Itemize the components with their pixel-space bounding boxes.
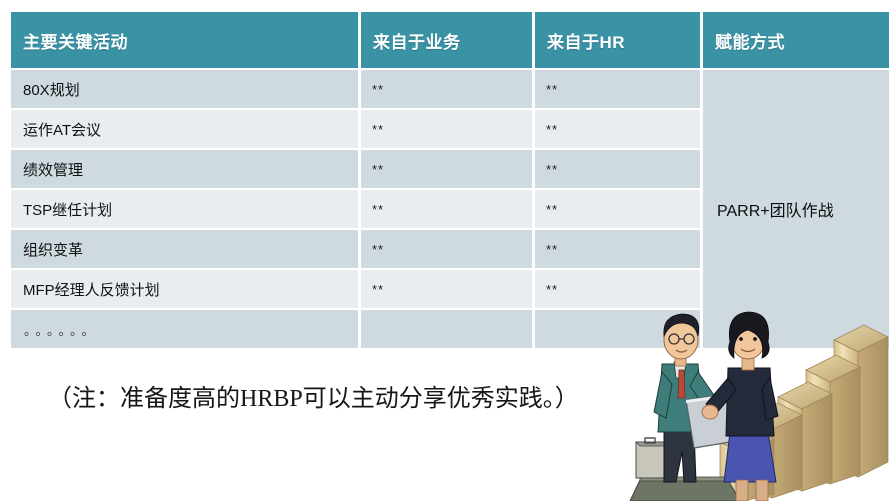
bar-2 <box>748 403 802 498</box>
cell-hr: ** <box>535 70 700 108</box>
cell-hr: ** <box>535 150 700 188</box>
table-header-row: 主要关键活动 来自于业务 来自于HR 赋能方式 <box>11 12 889 68</box>
cell-hr: ** <box>535 230 700 268</box>
cell-business: ** <box>361 150 532 188</box>
cell-activity: 80X规划 <box>11 70 358 108</box>
column-header-enablement: 赋能方式 <box>703 12 889 68</box>
cell-hr: ** <box>535 270 700 308</box>
bar-1 <box>720 427 774 501</box>
cell-hr: ** <box>535 110 700 148</box>
key-activities-table-container: 主要关键活动 来自于业务 来自于HR 赋能方式 80X规划 ** ** PARR… <box>8 10 882 350</box>
cell-business <box>361 310 532 348</box>
column-header-hr: 来自于HR <box>535 12 700 68</box>
cell-activity: TSP继任计划 <box>11 190 358 228</box>
bar-3 <box>778 382 832 491</box>
cell-activity-ellipsis: 。。。。。。 <box>11 310 358 348</box>
column-header-business: 来自于业务 <box>361 12 532 68</box>
cell-hr: ** <box>535 190 700 228</box>
cell-business: ** <box>361 110 532 148</box>
key-activities-table: 主要关键活动 来自于业务 来自于HR 赋能方式 80X规划 ** ** PARR… <box>8 10 889 350</box>
cell-activity: MFP经理人反馈计划 <box>11 270 358 308</box>
cell-business: ** <box>361 70 532 108</box>
cell-business: ** <box>361 190 532 228</box>
cell-hr <box>535 310 700 348</box>
cell-enablement-method: PARR+团队作战 <box>703 70 889 348</box>
cell-activity: 组织变革 <box>11 230 358 268</box>
cell-business: ** <box>361 270 532 308</box>
cell-business: ** <box>361 230 532 268</box>
cell-activity: 绩效管理 <box>11 150 358 188</box>
footnote-text: （注：准备度高的HRBP可以主动分享优秀实践。） <box>48 378 579 413</box>
table-row: 80X规划 ** ** PARR+团队作战 <box>11 70 889 108</box>
cell-activity: 运作AT会议 <box>11 110 358 148</box>
bar-4 <box>806 355 860 484</box>
slide-canvas: 主要关键活动 来自于业务 来自于HR 赋能方式 80X规划 ** ** PARR… <box>0 0 889 501</box>
column-header-activity: 主要关键活动 <box>11 12 358 68</box>
